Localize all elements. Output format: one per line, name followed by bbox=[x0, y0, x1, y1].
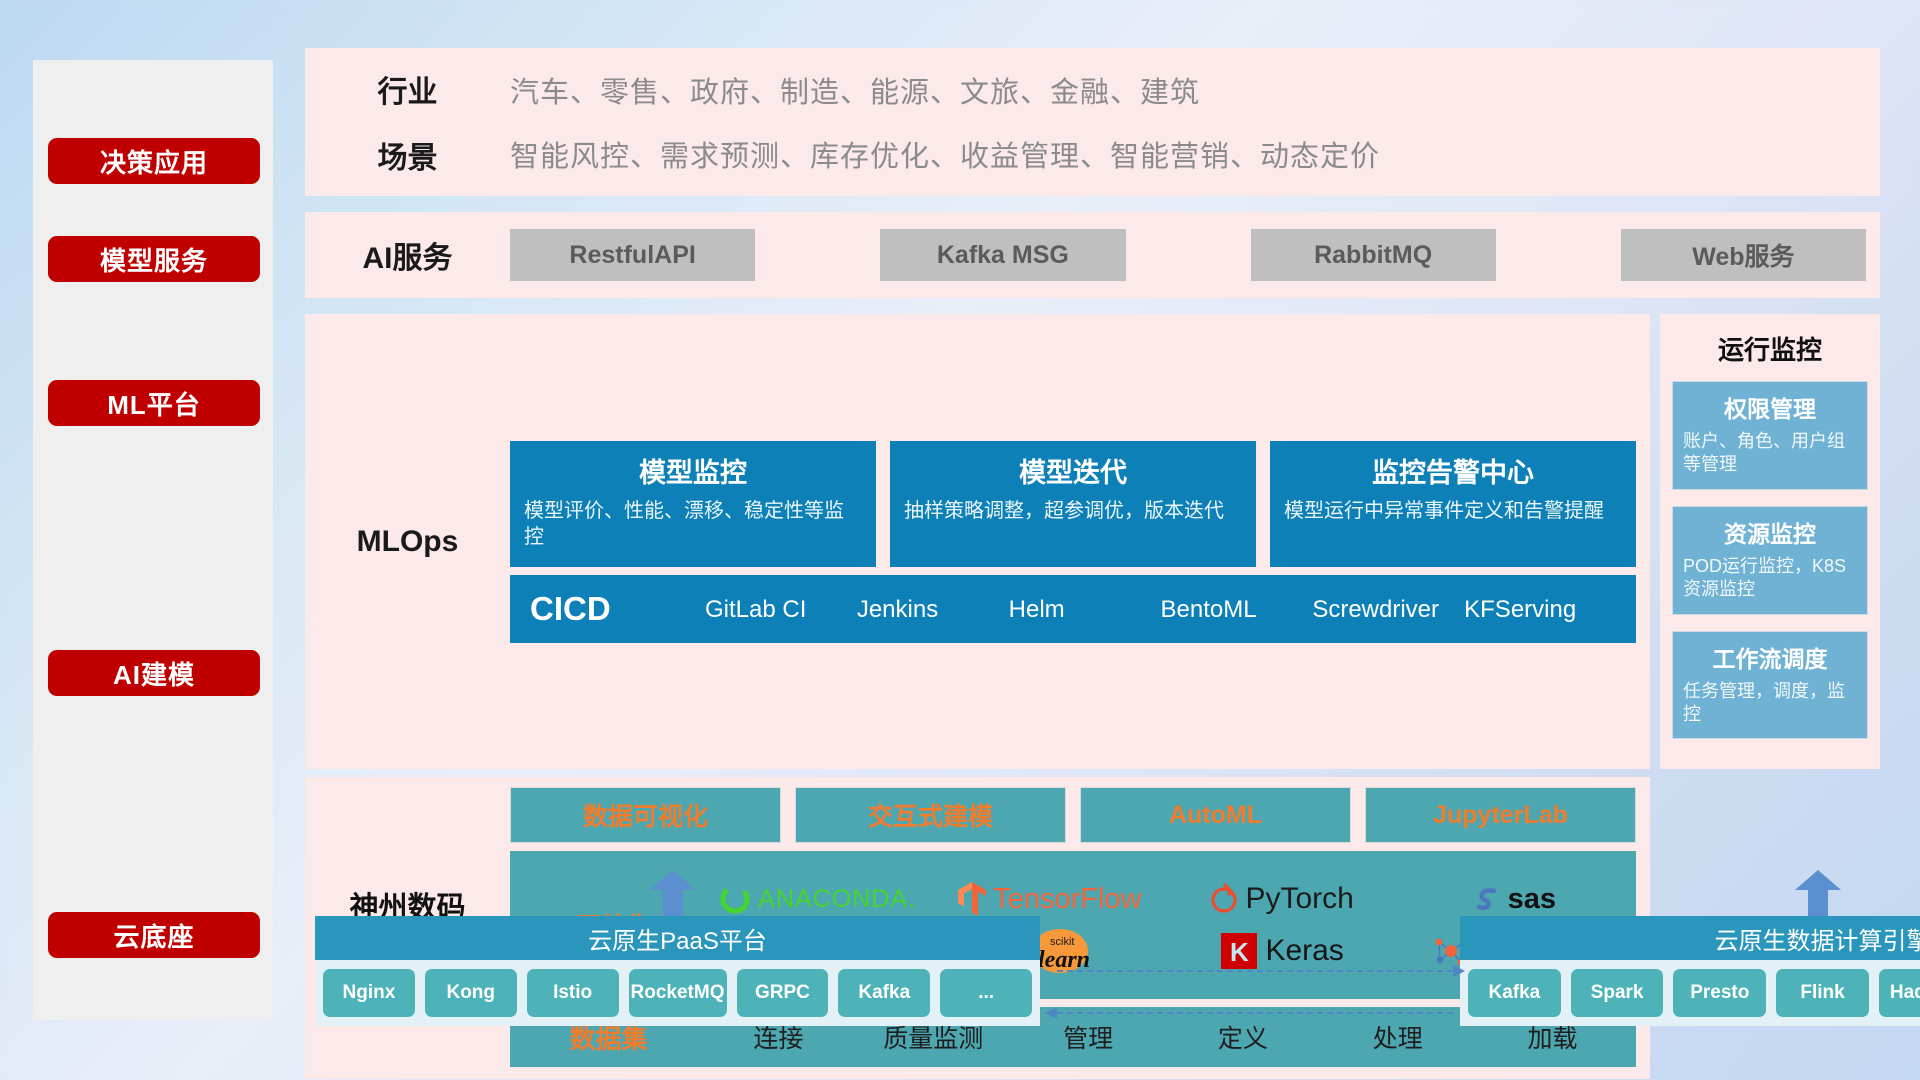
data-chip-kafka[interactable]: Kafka bbox=[1468, 969, 1561, 1017]
cloud-data-engine-group: 云原生数据计算引擎 Kafka Spark Presto Flink Hadoo… bbox=[1460, 916, 1920, 1026]
card-title: 工作流调度 bbox=[1683, 640, 1857, 674]
cloud-foundation-zone: 云原生PaaS平台 Nginx Kong Istio RocketMQ GRPC… bbox=[305, 880, 1890, 1030]
layer-rail: 决策应用 模型服务 ML平台 AI建模 云底座 bbox=[33, 60, 273, 1020]
rail-item-ml-platform[interactable]: ML平台 bbox=[48, 380, 260, 426]
rail-item-model-service[interactable]: 模型服务 bbox=[48, 236, 260, 282]
ai-service-chip-web-service[interactable]: Web服务 bbox=[1621, 229, 1866, 281]
cicd-item-screwdriver[interactable]: Screwdriver bbox=[1312, 596, 1464, 622]
data-chip-presto[interactable]: Presto bbox=[1673, 969, 1766, 1017]
card-desc: 模型运行中异常事件定义和告警提醒 bbox=[1284, 498, 1622, 524]
ai-service-chip-rabbitmq[interactable]: RabbitMQ bbox=[1251, 229, 1496, 281]
cicd-item-jenkins[interactable]: Jenkins bbox=[857, 596, 1009, 622]
tool-chip-jupyterlab[interactable]: JupyterLab bbox=[1365, 787, 1636, 843]
architecture-diagram: 决策应用 模型服务 ML平台 AI建模 云底座 行业 场景 汽车、零售、政府、制… bbox=[0, 0, 1920, 1080]
ai-service-band: AI服务 RestfulAPI Kafka MSG RabbitMQ Web服务 bbox=[305, 212, 1880, 298]
rail-item-decision-app[interactable]: 决策应用 bbox=[48, 138, 260, 184]
cicd-bar: CICD GitLab CI Jenkins Helm BentoML Scre… bbox=[510, 575, 1636, 643]
tool-chip-interactive-modeling[interactable]: 交互式建模 bbox=[795, 787, 1066, 843]
card-title: 模型监控 bbox=[524, 451, 862, 490]
monitor-card-workflow[interactable]: 工作流调度 任务管理，调度，监控 bbox=[1672, 631, 1868, 740]
industry-scene-band: 行业 场景 汽车、零售、政府、制造、能源、文旅、金融、建筑 智能风控、需求预测、… bbox=[305, 48, 1880, 196]
industry-label: 行业 bbox=[305, 67, 510, 111]
monitor-card-resource[interactable]: 资源监控 POD运行监控，K8S资源监控 bbox=[1672, 506, 1868, 615]
card-title: 资源监控 bbox=[1683, 515, 1857, 549]
card-desc: 抽样策略调整，超参调优，版本迭代 bbox=[904, 498, 1242, 524]
card-title: 监控告警中心 bbox=[1284, 451, 1622, 490]
card-desc: 模型评价、性能、漂移、稳定性等监控 bbox=[524, 498, 862, 551]
ai-service-chip-kafka-msg[interactable]: Kafka MSG bbox=[880, 229, 1125, 281]
runtime-monitor-sidebar: 运行监控 权限管理 账户、角色、用户组等管理 资源监控 POD运行监控，K8S资… bbox=[1660, 314, 1880, 769]
link-arrow-left bbox=[1045, 1012, 1465, 1014]
cloud-chip-kafka[interactable]: Kafka bbox=[838, 969, 930, 1017]
cicd-title: CICD bbox=[530, 590, 705, 628]
data-chip-hadoop[interactable]: Hadoop bbox=[1879, 969, 1920, 1017]
mlops-band: MLOps 模型监控 模型评价、性能、漂移、稳定性等监控 模型迭代 抽样策略调整… bbox=[305, 314, 1650, 769]
mlops-card-alert-center[interactable]: 监控告警中心 模型运行中异常事件定义和告警提醒 bbox=[1270, 441, 1636, 567]
card-title: 权限管理 bbox=[1683, 390, 1857, 424]
cloud-chip-nginx[interactable]: Nginx bbox=[323, 969, 415, 1017]
up-arrow-data-engine bbox=[1795, 870, 1841, 916]
cloud-chip-istio[interactable]: Istio bbox=[527, 969, 619, 1017]
cicd-item-gitlab-ci[interactable]: GitLab CI bbox=[705, 596, 857, 622]
data-chip-flink[interactable]: Flink bbox=[1776, 969, 1869, 1017]
rail-item-cloud-base[interactable]: 云底座 bbox=[48, 912, 260, 958]
card-desc: POD运行监控，K8S资源监控 bbox=[1683, 555, 1857, 602]
rail-item-ai-modeling[interactable]: AI建模 bbox=[48, 650, 260, 696]
scene-label: 场景 bbox=[305, 133, 510, 177]
card-title: 模型迭代 bbox=[904, 451, 1242, 490]
card-desc: 账户、角色、用户组等管理 bbox=[1683, 430, 1857, 477]
cicd-item-helm[interactable]: Helm bbox=[1009, 596, 1161, 622]
cloud-chip-grpc[interactable]: GRPC bbox=[737, 969, 829, 1017]
tool-chip-data-visualization[interactable]: 数据可视化 bbox=[510, 787, 781, 843]
industry-values: 汽车、零售、政府、制造、能源、文旅、金融、建筑 bbox=[510, 69, 1880, 111]
monitor-title: 运行监控 bbox=[1672, 330, 1868, 367]
monitor-card-permission[interactable]: 权限管理 账户、角色、用户组等管理 bbox=[1672, 381, 1868, 490]
cloud-chip-kong[interactable]: Kong bbox=[425, 969, 517, 1017]
ai-service-label: AI服务 bbox=[305, 233, 510, 277]
mlops-label: MLOps bbox=[305, 525, 510, 559]
mlops-card-model-monitoring[interactable]: 模型监控 模型评价、性能、漂移、稳定性等监控 bbox=[510, 441, 876, 567]
scene-values: 智能风控、需求预测、库存优化、收益管理、智能营销、动态定价 bbox=[510, 133, 1880, 175]
mlops-row: MLOps 模型监控 模型评价、性能、漂移、稳定性等监控 模型迭代 抽样策略调整… bbox=[305, 314, 1880, 769]
cloud-chip-rocketmq[interactable]: RocketMQ bbox=[629, 969, 727, 1017]
cicd-item-kfserving[interactable]: KFServing bbox=[1464, 596, 1616, 622]
link-arrow-right bbox=[1045, 970, 1465, 972]
ai-service-chip-restfulapi[interactable]: RestfulAPI bbox=[510, 229, 755, 281]
cloud-paas-group: 云原生PaaS平台 Nginx Kong Istio RocketMQ GRPC… bbox=[315, 916, 1040, 1026]
tool-chip-automl[interactable]: AutoML bbox=[1080, 787, 1351, 843]
cloud-paas-title: 云原生PaaS平台 bbox=[315, 916, 1040, 960]
card-desc: 任务管理，调度，监控 bbox=[1683, 680, 1857, 727]
up-arrow-paas bbox=[650, 870, 696, 916]
cicd-item-bentoml[interactable]: BentoML bbox=[1160, 596, 1312, 622]
data-chip-spark[interactable]: Spark bbox=[1571, 969, 1664, 1017]
cloud-chip-more[interactable]: ... bbox=[940, 969, 1032, 1017]
cloud-data-engine-title: 云原生数据计算引擎 bbox=[1460, 916, 1920, 960]
mlops-card-model-iteration[interactable]: 模型迭代 抽样策略调整，超参调优，版本迭代 bbox=[890, 441, 1256, 567]
